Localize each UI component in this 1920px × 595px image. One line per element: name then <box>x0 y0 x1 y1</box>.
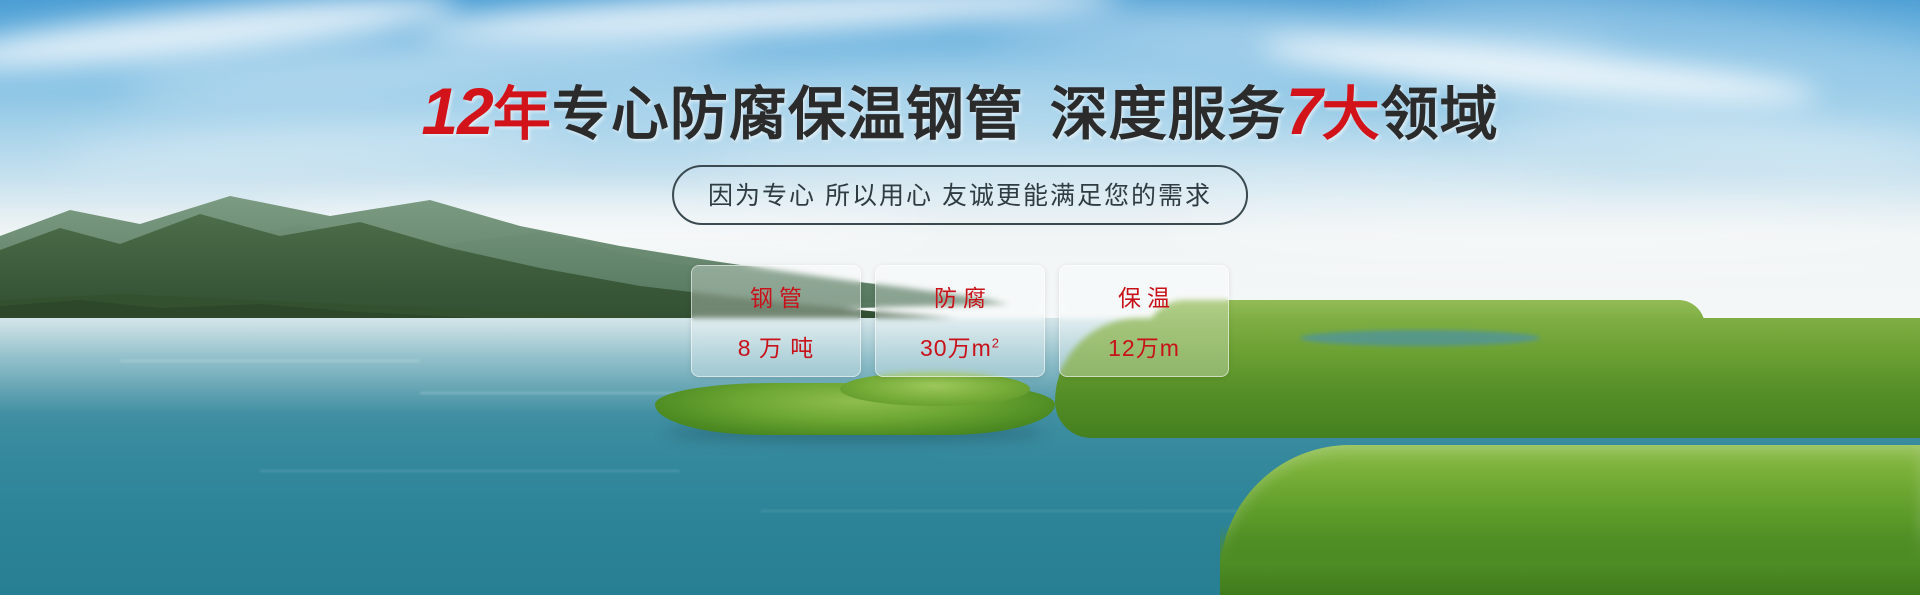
promo-banner: 12年专心防腐保温钢管深度服务7大领域 因为专心 所以用心 友诚更能满足您的需求… <box>0 0 1920 595</box>
stats-row: 钢管 8 万 吨 防腐 30万m2 保温 12万m <box>691 265 1229 377</box>
headline-segment-three: 领域 <box>1381 82 1499 147</box>
stat-card-insulation: 保温 12万m <box>1059 265 1229 377</box>
stat-value: 8 万 吨 <box>738 329 815 363</box>
stat-card-steel-pipe: 钢管 8 万 吨 <box>691 265 861 377</box>
banner-headline: 12年专心防腐保温钢管深度服务7大领域 <box>0 78 1920 144</box>
stat-label: 钢管 <box>744 279 808 313</box>
stat-value: 30万m2 <box>920 329 1000 363</box>
stat-value: 12万m <box>1108 329 1180 363</box>
headline-segment-two: 深度服务 <box>1050 82 1286 147</box>
stat-card-anticorrosion: 防腐 30万m2 <box>875 265 1045 377</box>
headline-fields-number: 7 <box>1286 74 1322 148</box>
headline-segment-one: 专心防腐保温钢管 <box>552 82 1024 147</box>
stat-value-superscript: 2 <box>992 335 1000 350</box>
headline-years-number: 12 <box>421 74 492 148</box>
headline-fields-unit: 大 <box>1322 82 1381 147</box>
stat-label: 保温 <box>1112 279 1176 313</box>
headline-years-unit: 年 <box>493 82 552 147</box>
banner-subtitle-pill: 因为专心 所以用心 友诚更能满足您的需求 <box>672 165 1248 225</box>
stat-label: 防腐 <box>928 279 992 313</box>
